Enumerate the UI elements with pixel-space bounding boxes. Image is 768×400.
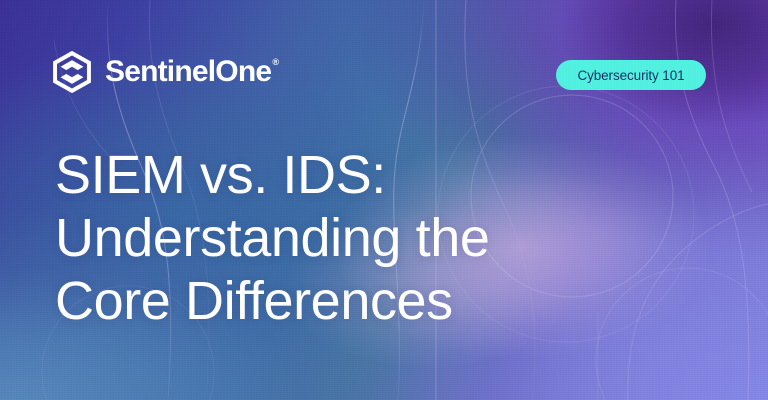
marketing-banner: SentinelOne® Cybersecurity 101 SIEM vs. … — [0, 0, 768, 400]
background-noise-texture — [0, 0, 768, 400]
